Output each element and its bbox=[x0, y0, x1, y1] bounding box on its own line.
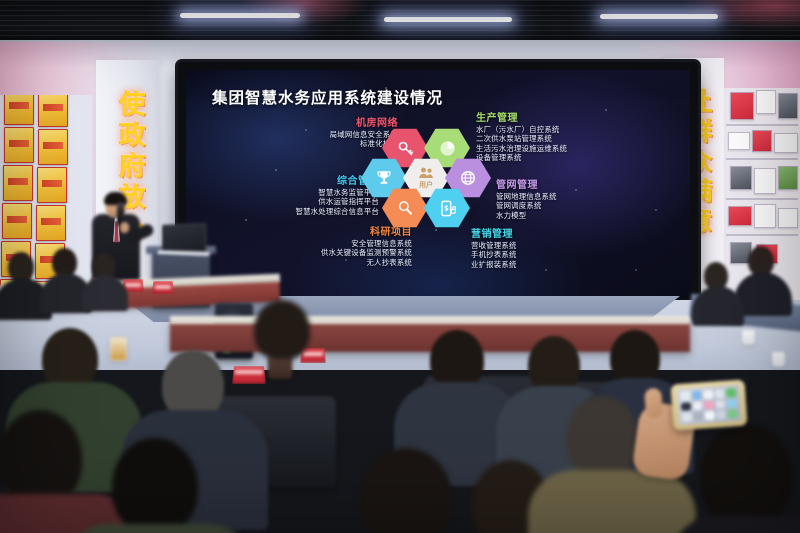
head bbox=[112, 438, 198, 533]
paper-cup bbox=[772, 352, 785, 367]
group-heading: 管网管理 bbox=[496, 180, 557, 192]
app-icon bbox=[726, 388, 736, 397]
group-item: 生活污水治理设施运维系统 bbox=[476, 144, 567, 153]
poster bbox=[752, 130, 772, 152]
slide-group-shengchan: 生产管理 水厂（污水厂）自控系统 二次供水泵站管理系统 生活污水治理设施运维系统… bbox=[476, 113, 567, 163]
app-icon bbox=[727, 399, 737, 408]
app-icon bbox=[692, 401, 702, 410]
certificate bbox=[2, 203, 32, 239]
group-item: 手机抄表系统 bbox=[471, 250, 517, 259]
group-item: 二次供水泵站管理系统 bbox=[476, 134, 567, 143]
group-item: 局域网信息安全系统 bbox=[330, 130, 398, 139]
app-icon bbox=[682, 413, 692, 422]
presenter-hand bbox=[120, 222, 129, 233]
group-item: 业扩报装系统 bbox=[471, 260, 517, 269]
certificate bbox=[3, 165, 33, 201]
trophy-icon bbox=[375, 169, 393, 187]
certificate bbox=[36, 205, 66, 241]
group-item: 智慧水务监管平台 bbox=[296, 188, 380, 197]
group-item: 安全管理信息系统 bbox=[321, 239, 412, 248]
group-item: 供水运管指挥平台 bbox=[296, 197, 380, 206]
group-item: 供水关键设备监测预警系统 bbox=[321, 248, 412, 257]
group-heading: 营销管理 bbox=[471, 229, 517, 241]
app-icon bbox=[716, 410, 726, 419]
head bbox=[254, 300, 310, 360]
certificate bbox=[37, 167, 67, 203]
head bbox=[42, 328, 98, 390]
poster bbox=[778, 166, 798, 190]
group-heading: 机房网络 bbox=[330, 118, 398, 130]
app-icon bbox=[681, 402, 691, 411]
app-icon bbox=[703, 390, 713, 399]
ceiling-light-1 bbox=[180, 13, 300, 18]
group-item: 设备管理系统 bbox=[476, 153, 567, 162]
group-item: 管网调度系统 bbox=[496, 201, 557, 210]
poster bbox=[778, 93, 798, 119]
conference-room-scene: 使政府放心 让群众满意 集团智慧水务应用系统建设情况 机房网络 局域网信息安全系… bbox=[0, 0, 800, 533]
app-icon bbox=[704, 400, 714, 409]
paper-cup bbox=[742, 330, 755, 345]
audience-table-top bbox=[170, 316, 690, 324]
poster-shelf bbox=[726, 198, 798, 200]
group-item: 水厂（污水厂）自控系统 bbox=[476, 125, 567, 134]
poster bbox=[754, 168, 776, 194]
name-placard bbox=[152, 281, 174, 294]
users-icon bbox=[418, 166, 435, 179]
app-icon bbox=[715, 389, 725, 398]
slide-group-yingxiao: 营销管理 营收管理系统 手机抄表系统 业扩报装系统 bbox=[471, 229, 517, 269]
shoulders bbox=[528, 470, 696, 533]
poster bbox=[756, 90, 776, 114]
name-placard bbox=[232, 366, 266, 384]
hex-center-label: 用户 bbox=[419, 180, 433, 190]
certificate bbox=[38, 95, 68, 127]
head bbox=[0, 410, 82, 506]
poster bbox=[730, 92, 754, 120]
presentation-screen[interactable]: 集团智慧水务应用系统建设情况 机房网络 局域网信息安全系统 标准化机房 综合管理… bbox=[186, 70, 690, 297]
group-item: 管网地理信息系统 bbox=[496, 192, 557, 201]
certificate bbox=[38, 129, 68, 165]
poster-shelf bbox=[726, 234, 798, 236]
group-heading: 科研项目 bbox=[321, 227, 412, 239]
smartphone-screen[interactable] bbox=[677, 385, 741, 425]
head bbox=[430, 330, 484, 390]
magnifier-icon bbox=[396, 199, 414, 217]
app-icon bbox=[692, 391, 702, 400]
presenter-laptop[interactable] bbox=[162, 223, 206, 253]
certificate bbox=[4, 127, 34, 163]
poster bbox=[730, 166, 752, 190]
ceiling-light-3 bbox=[600, 14, 718, 19]
poster-shelf bbox=[726, 158, 798, 160]
app-icon bbox=[715, 400, 725, 409]
app-icon bbox=[728, 409, 738, 418]
app-icon bbox=[693, 412, 703, 421]
app-icon bbox=[680, 391, 690, 400]
mobile-payment-icon: $ bbox=[438, 199, 457, 218]
pie-chart-icon bbox=[438, 139, 457, 158]
poster bbox=[728, 206, 752, 226]
slide-title: 集团智慧水务应用系统建设情况 bbox=[212, 86, 443, 108]
globe-network-icon bbox=[459, 169, 477, 187]
poster bbox=[778, 208, 798, 228]
group-item: 水力模型 bbox=[496, 211, 557, 220]
app-icon bbox=[705, 411, 715, 420]
group-item: 智慧水处理综合信息平台 bbox=[296, 207, 380, 216]
head bbox=[566, 396, 638, 478]
poster bbox=[754, 204, 776, 228]
poster bbox=[728, 132, 750, 150]
group-item: 营收管理系统 bbox=[471, 241, 517, 250]
tea-cup bbox=[110, 337, 127, 361]
group-item: 无人抄表系统 bbox=[321, 258, 412, 267]
slide-group-keyan: 科研项目 安全管理信息系统 供水关键设备监测预警系统 无人抄表系统 bbox=[321, 227, 412, 267]
smartphone[interactable] bbox=[670, 379, 747, 430]
key-icon bbox=[396, 139, 415, 158]
poster-shelf bbox=[726, 124, 798, 126]
svg-text:$: $ bbox=[443, 203, 448, 212]
ceiling-light-2 bbox=[384, 17, 512, 22]
slide-group-guanwang: 管网管理 管网地理信息系统 管网调度系统 水力模型 bbox=[496, 180, 557, 220]
head bbox=[700, 424, 792, 528]
certificate bbox=[4, 95, 34, 125]
poster bbox=[774, 133, 798, 153]
group-heading: 生产管理 bbox=[476, 113, 567, 125]
